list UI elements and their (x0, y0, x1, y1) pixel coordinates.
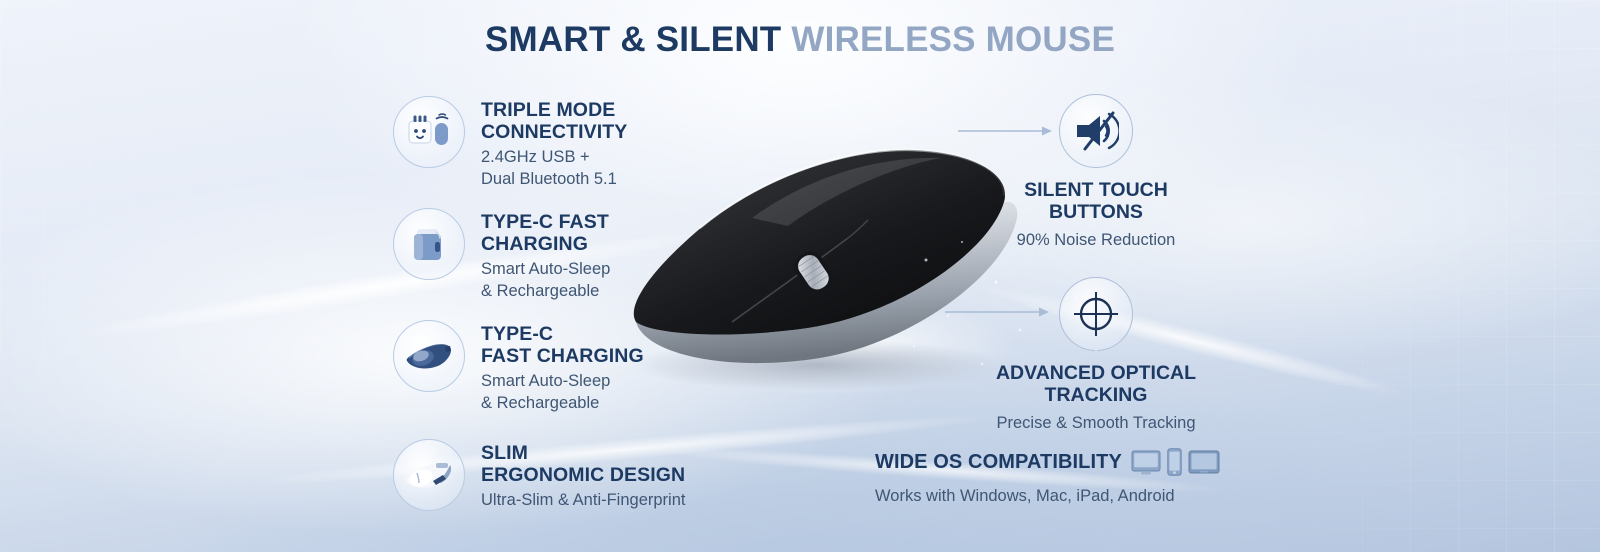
feature-text: TRIPLE MODE CONNECTIVITY 2.4GHz USB + Du… (481, 96, 627, 190)
sparkle-specks (900, 220, 1130, 400)
feature-os-compatibility[interactable]: WIDE OS COMPATIBILITY Wo (875, 448, 1205, 506)
feature-type-c-charging[interactable]: TYPE-C FAST CHARGING Smart Auto-Sleep & … (393, 208, 610, 302)
background-grid-right (1170, 0, 1600, 552)
feature-icon-badge (393, 439, 465, 511)
feature-icon-badge (393, 208, 465, 280)
feature-icon-badge (393, 96, 465, 168)
feature-icon-badge (1059, 94, 1133, 168)
banner-title: SMART & SILENT WIRELESS MOUSE (0, 20, 1600, 60)
white-mouse-icon (403, 457, 455, 493)
feature-subtitle: Ultra-Slim & Anti-Fingerprint (481, 489, 685, 511)
feature-text: TYPE-C FAST CHARGING Smart Auto-Sleep & … (481, 208, 610, 302)
os-subtitle: Works with Windows, Mac, iPad, Android (875, 487, 1205, 506)
feature-text: SLIM ERGONOMIC DESIGN Ultra-Slim & Anti-… (481, 439, 685, 511)
os-heading-row: WIDE OS COMPATIBILITY (875, 448, 1205, 476)
feature-slim-ergonomic[interactable]: SLIM ERGONOMIC DESIGN Ultra-Slim & Anti-… (393, 439, 685, 511)
tablet-icon (1188, 450, 1220, 476)
feature-text: TYPE-C FAST CHARGING Smart Auto-Sleep & … (481, 320, 644, 414)
title-strong: SMART & SILENT (485, 20, 781, 59)
feature-heading: TYPE-C FAST CHARGING (481, 323, 644, 367)
feature-icon-badge (393, 320, 465, 392)
feature-heading: TYPE-C FAST CHARGING (481, 211, 610, 255)
device-icon-group (1131, 448, 1220, 476)
feature-triple-mode[interactable]: TRIPLE MODE CONNECTIVITY 2.4GHz USB + Du… (393, 96, 627, 190)
feature-subtitle: Precise & Smooth Tracking (982, 413, 1210, 434)
feature-subtitle: 2.4GHz USB + Dual Bluetooth 5.1 (481, 146, 627, 190)
os-heading: WIDE OS COMPATIBILITY (875, 451, 1122, 474)
feature-heading: SILENT TOUCH BUTTONS (990, 179, 1202, 223)
mute-speaker-icon (1073, 109, 1119, 153)
phone-icon (1167, 448, 1182, 476)
feature-subtitle: Smart Auto-Sleep & Rechargeable (481, 258, 610, 302)
feature-heading: SLIM ERGONOMIC DESIGN (481, 442, 685, 486)
title-light: WIRELESS MOUSE (791, 20, 1115, 59)
feature-type-c-fast-charging[interactable]: TYPE-C FAST CHARGING Smart Auto-Sleep & … (393, 320, 644, 414)
feature-heading: TRIPLE MODE CONNECTIVITY (481, 99, 627, 143)
infographic-banner: SMART & SILENT WIRELESS MOUSE (0, 0, 1600, 552)
feature-subtitle: Smart Auto-Sleep & Rechargeable (481, 370, 644, 414)
monitor-icon (1131, 450, 1161, 476)
usb-dongle-bluetooth-icon (407, 111, 451, 153)
battery-charging-icon (409, 223, 449, 265)
blue-mouse-icon (404, 339, 454, 373)
